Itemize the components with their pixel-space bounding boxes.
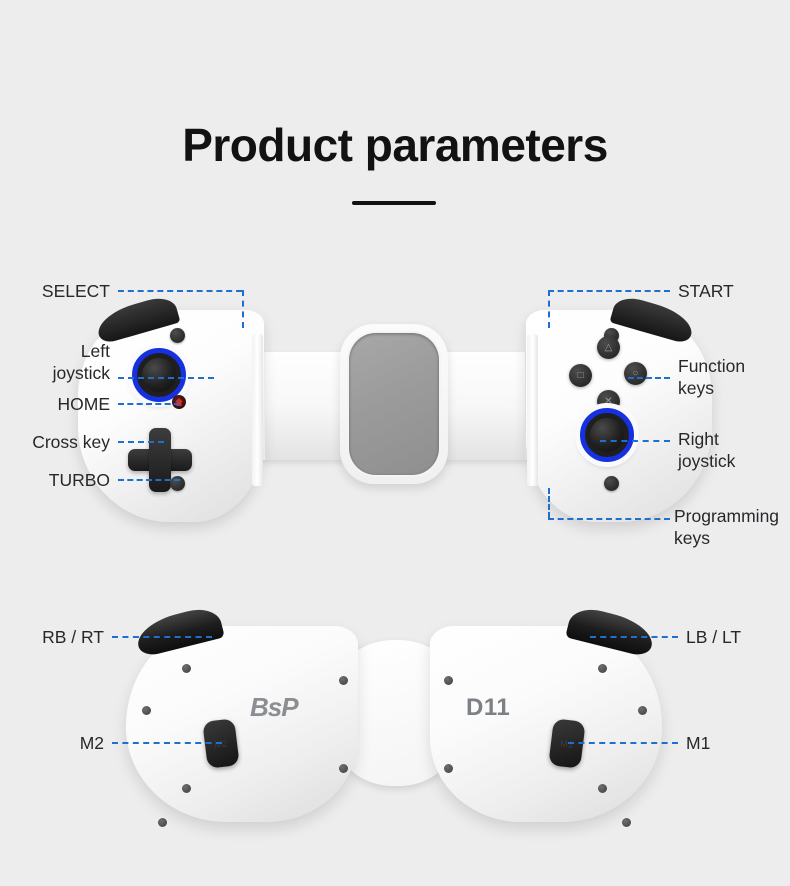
screw bbox=[182, 664, 191, 673]
leader-line-m2 bbox=[112, 742, 222, 744]
leader-line-right-joystick bbox=[600, 440, 670, 442]
leader-line-start-horizontal bbox=[548, 290, 670, 292]
home-button[interactable] bbox=[172, 395, 186, 409]
dpad-vertical-arm bbox=[149, 428, 171, 492]
leader-line-function-keys bbox=[628, 377, 670, 379]
label-turbo: TURBO bbox=[0, 469, 110, 491]
leader-line-programming-vertical bbox=[548, 488, 550, 518]
label-m2: M2 bbox=[0, 732, 104, 754]
label-right-joystick: Right joystick bbox=[678, 428, 790, 473]
model-number-text: D11 bbox=[466, 694, 510, 722]
leader-line-turbo bbox=[118, 479, 180, 481]
label-home: HOME bbox=[0, 393, 110, 415]
screw bbox=[598, 664, 607, 673]
leader-line-cross-key bbox=[118, 441, 164, 443]
label-left-joystick: Left joystick bbox=[0, 340, 110, 385]
screw bbox=[598, 784, 607, 793]
leader-line-home bbox=[118, 403, 180, 405]
controller-back-view: M2 M1 bbox=[0, 612, 790, 842]
screw bbox=[182, 784, 191, 793]
left-joystick[interactable] bbox=[132, 348, 186, 402]
leader-line-left-joystick bbox=[118, 377, 214, 379]
clamp-grip-pad bbox=[349, 333, 439, 475]
programming-key-button[interactable] bbox=[604, 476, 619, 491]
leader-line-select-vertical bbox=[242, 290, 244, 328]
screw bbox=[339, 676, 348, 685]
screw bbox=[142, 706, 151, 715]
leader-line-start-vertical bbox=[548, 290, 550, 328]
leader-line-rb-rt bbox=[112, 636, 212, 638]
label-lb-lt: LB / LT bbox=[686, 626, 790, 648]
square-button[interactable]: □ bbox=[569, 364, 592, 387]
back-left-grip-shell bbox=[126, 626, 358, 822]
title-underline-rule bbox=[352, 201, 436, 205]
triangle-button[interactable]: △ bbox=[597, 336, 620, 359]
label-start: START bbox=[678, 280, 790, 302]
circle-button[interactable]: ○ bbox=[624, 362, 647, 385]
leader-line-programming-horizontal bbox=[548, 518, 670, 520]
label-cross-key: Cross key bbox=[0, 431, 110, 453]
phone-clamp bbox=[340, 324, 448, 484]
screw bbox=[339, 764, 348, 773]
screw bbox=[444, 764, 453, 773]
leader-line-select-horizontal bbox=[118, 290, 242, 292]
back-right-grip-shell bbox=[430, 626, 662, 822]
page-title: Product parameters bbox=[0, 118, 790, 172]
screw bbox=[622, 818, 631, 827]
select-button[interactable] bbox=[170, 328, 185, 343]
left-slide-rail bbox=[252, 334, 263, 486]
screw bbox=[158, 818, 167, 827]
right-slide-rail bbox=[527, 334, 538, 486]
screw bbox=[444, 676, 453, 685]
screw bbox=[638, 706, 647, 715]
right-joystick[interactable] bbox=[580, 408, 634, 462]
leader-line-lb-lt bbox=[590, 636, 678, 638]
leader-line-m1 bbox=[568, 742, 678, 744]
label-rb-rt: RB / RT bbox=[0, 626, 104, 648]
product-parameters-page: Product parameters △ □ ○ ✕ bbox=[0, 0, 790, 886]
brand-logo-text: BsP bbox=[250, 692, 298, 723]
controller-front-view: △ □ ○ ✕ bbox=[0, 300, 790, 530]
label-function-keys: Function keys bbox=[678, 355, 790, 400]
label-select: SELECT bbox=[0, 280, 110, 302]
label-m1: M1 bbox=[686, 732, 790, 754]
label-programming-keys: Programming keys bbox=[674, 505, 790, 550]
